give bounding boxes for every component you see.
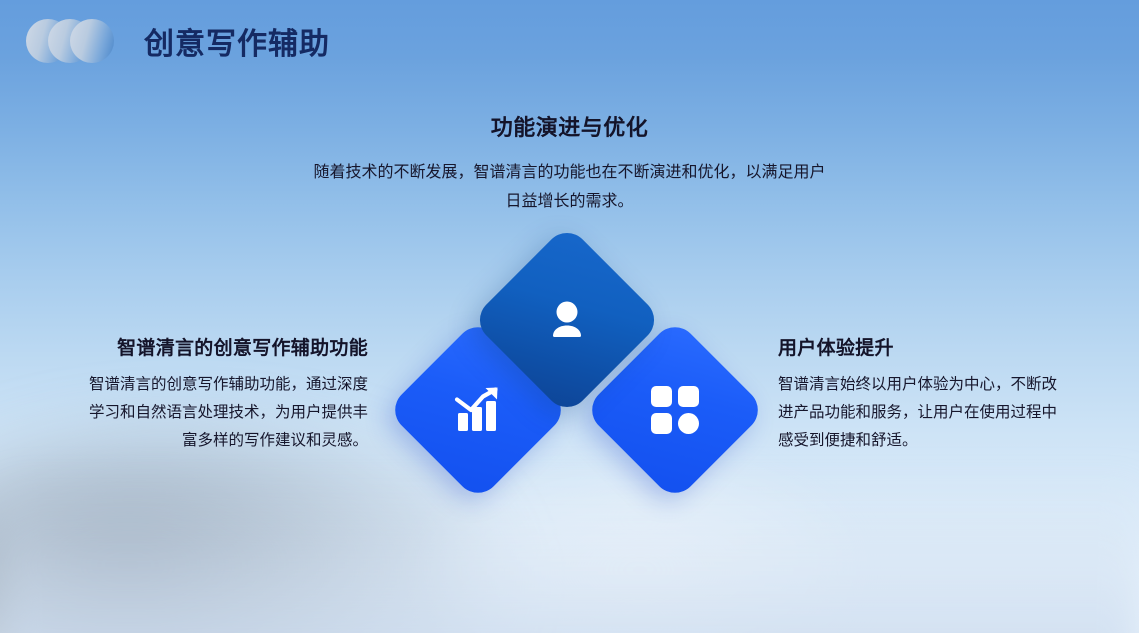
top-section-title: 功能演进与优化 [310, 110, 830, 142]
logo-circle-3 [70, 19, 114, 63]
grid-modules-icon [650, 385, 700, 435]
slide-header: 创意写作辅助 [0, 0, 1139, 82]
left-section-title: 智谱清言的创意写作辅助功能 [88, 336, 368, 361]
right-section-title: 用户体验提升 [778, 336, 1058, 361]
top-section: 功能演进与优化 随着技术的不断发展，智谱清言的功能也在不断演进和优化，以满足用户… [310, 110, 830, 216]
page-title: 创意写作辅助 [144, 19, 330, 63]
background-haze-left [0, 430, 500, 633]
left-section: 智谱清言的创意写作辅助功能 智谱清言的创意写作辅助功能，通过深度学习和自然语言处… [88, 336, 368, 455]
top-section-description: 随着技术的不断发展，智谱清言的功能也在不断演进和优化，以满足用户日益增长的需求。 [310, 158, 830, 216]
left-section-description: 智谱清言的创意写作辅助功能，通过深度学习和自然语言处理技术，为用户提供丰富多样的… [88, 371, 368, 455]
right-section: 用户体验提升 智谱清言始终以用户体验为中心，不断改进产品功能和服务，让用户在使用… [778, 336, 1058, 455]
bar-chart-growth-icon [452, 385, 504, 435]
three-circles-logo-icon [26, 14, 132, 68]
background-haze-center [430, 470, 850, 633]
right-section-description: 智谱清言始终以用户体验为中心，不断改进产品功能和服务，让用户在使用过程中感受到便… [778, 371, 1058, 455]
background-haze-bottom [0, 473, 1139, 633]
user-person-icon [541, 294, 593, 346]
slide-root: 创意写作辅助 功能演进与优化 随着技术的不断发展，智谱清言的功能也在不断演进和优… [0, 0, 1139, 633]
